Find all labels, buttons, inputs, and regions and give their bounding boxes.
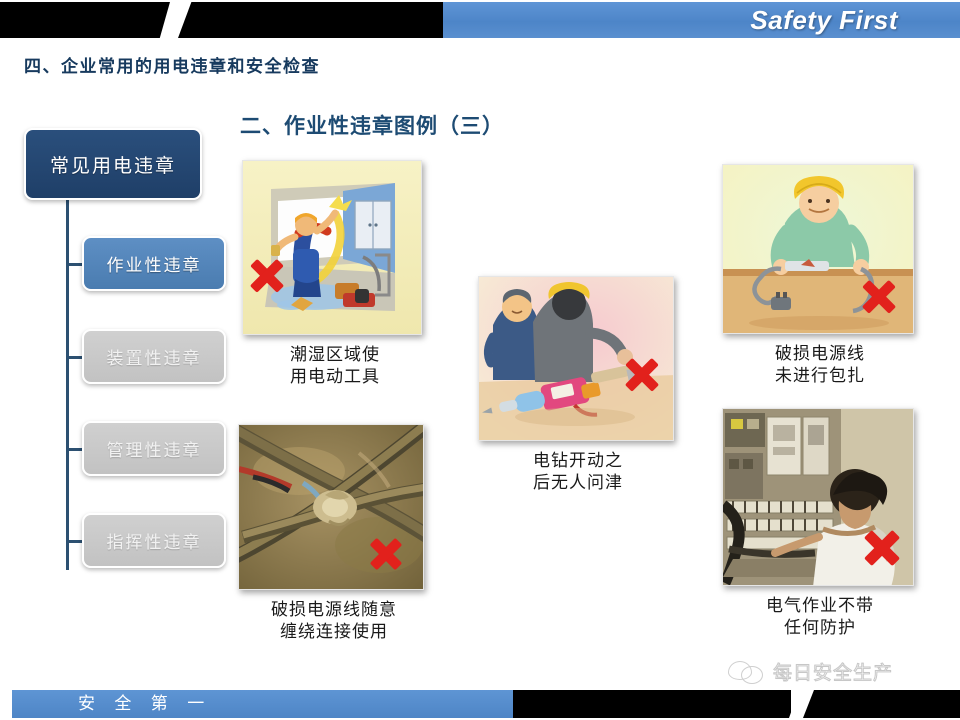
card-unattended-drill: 电钻开动之 后无人问津 [478,276,678,495]
caption-line-1: 破损电源线随意 [238,599,430,621]
caption-damaged-cord-unwrapped: 破损电源线 未进行包扎 [722,343,918,388]
caption-no-protection-electrical-work: 电气作业不带 任何防护 [722,595,918,640]
footer-black-shape-right [803,690,960,718]
caption-line-1: 电钻开动之 [478,450,678,472]
sidebar-item-label-0: 作业性违章 [107,251,202,276]
sidebar-item-label-3: 指挥性违章 [107,528,202,553]
slide-header: Safety First [0,0,960,42]
photo-damaged-cord-twisted [238,424,424,590]
card-wet-area-power-tool: 潮湿区域使 用电动工具 [242,160,428,389]
caption-damaged-cord-twisted: 破损电源线随意 缠绕连接使用 [238,599,430,644]
photo-unattended-drill [478,276,674,441]
red-x-marker [859,277,899,317]
caption-line-2: 未进行包扎 [722,365,918,387]
red-x-marker [622,355,662,395]
footer-black-shape-left [513,690,791,718]
card-damaged-cord-unwrapped: 破损电源线 未进行包扎 [722,164,918,388]
caption-line-1: 潮湿区域使 [242,344,428,366]
watermark: 每日安全生产 [728,658,893,685]
red-x-marker [367,535,405,573]
red-x-marker [247,256,287,296]
tree-connector-vertical [66,196,69,570]
caption-unattended-drill: 电钻开动之 后无人问津 [478,450,678,495]
caption-line-1: 电气作业不带 [722,595,918,617]
photo-no-protection-electrical-work [722,408,914,586]
section-heading: 四、企业常用的用电违章和安全检查 [24,52,320,77]
photo-wet-area-power-tool [242,160,422,335]
caption-wet-area-power-tool: 潮湿区域使 用电动工具 [242,344,428,389]
page-title: 二、作业性违章图例（三） [240,110,504,140]
photo-damaged-cord-unwrapped [722,164,914,334]
sidebar-tree: 常见用电违章 作业性违章 装置性违章 管理性违章 指挥性违章 [24,118,224,558]
footer-label: 安 全 第 一 [78,690,211,718]
caption-line-1: 破损电源线 [722,343,918,365]
slide-footer: 安 全 第 一 [0,688,960,720]
caption-line-2: 任何防护 [722,617,918,639]
sidebar-item-operational-violation[interactable]: 作业性违章 [82,236,226,291]
slide-canvas: Safety First 四、企业常用的用电违章和安全检查 常见用电违章 作业性… [0,0,960,720]
wechat-bubble-icon [728,661,766,683]
watermark-text: 每日安全生产 [773,658,893,685]
sidebar-item-management-violation[interactable]: 管理性违章 [82,421,226,476]
caption-line-2: 用电动工具 [242,366,428,388]
header-black-shape-mid [178,2,446,38]
card-no-protection-electrical-work: 电气作业不带 任何防护 [722,408,918,640]
sidebar-item-label-2: 管理性违章 [107,436,202,461]
sidebar-item-command-violation[interactable]: 指挥性违章 [82,513,226,568]
red-x-marker [861,527,903,569]
header-title: Safety First [750,3,898,37]
sidebar-item-label-1: 装置性违章 [107,344,202,369]
illustration-wet-area [243,161,422,335]
sidebar-root-label: 常见用电违章 [50,151,176,178]
card-damaged-cord-twisted: 破损电源线随意 缠绕连接使用 [238,424,430,644]
sidebar-item-root[interactable]: 常见用电违章 [24,128,202,200]
caption-line-2: 缠绕连接使用 [238,621,430,643]
footer-diagonal-divider [789,690,807,718]
header-black-shape-left [0,2,170,38]
sidebar-item-equipment-violation[interactable]: 装置性违章 [82,329,226,384]
caption-line-2: 后无人问津 [478,472,678,494]
